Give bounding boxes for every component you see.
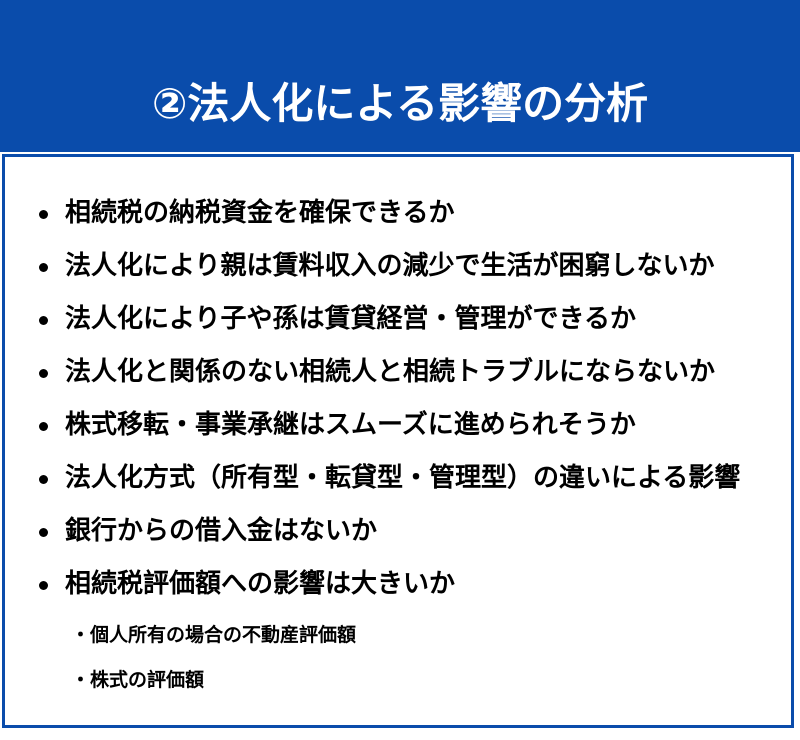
sub-checklist: ・個人所有の場合の不動産評価額 ・株式の評価額 <box>5 613 791 703</box>
content-panel: 相続税の納税資金を確保できるか 法人化により親は賃料収入の減少で生活が困窮しない… <box>2 154 794 728</box>
bullet-dot-icon <box>39 263 48 272</box>
sub-list-item: ・株式の評価額 <box>5 658 791 703</box>
bullet-dot-icon <box>39 316 48 325</box>
list-item-label: 相続税評価額への影響は大きいか <box>65 570 455 599</box>
list-item-label: 法人化により子や孫は賃貸経営・管理ができるか <box>65 305 636 334</box>
sub-list-item: ・個人所有の場合の不動産評価額 <box>5 613 791 658</box>
sub-list-item-label: ・株式の評価額 <box>71 670 204 691</box>
list-item-label: 株式移転・事業承継はスムーズに進められそうか <box>65 411 636 440</box>
checklist: 相続税の納税資金を確保できるか 法人化により親は賃料収入の減少で生活が困窮しない… <box>5 187 791 701</box>
slide-container: ②法人化による影響の分析 相続税の納税資金を確保できるか 法人化により親は賃料収… <box>0 0 800 740</box>
bullet-dot-icon <box>39 210 48 219</box>
sub-list-item-label: ・個人所有の場合の不動産評価額 <box>71 625 356 646</box>
bullet-dot-icon <box>39 369 48 378</box>
list-item: 株式移転・事業承継はスムーズに進められそうか <box>5 399 791 452</box>
list-item: 法人化により子や孫は賃貸経営・管理ができるか <box>5 293 791 346</box>
bullet-dot-icon <box>39 528 48 537</box>
list-item-label: 法人化と関係のない相続人と相続トラブルにならないか <box>65 358 715 387</box>
list-item-label: 法人化により親は賃料収入の減少で生活が困窮しないか <box>65 252 714 281</box>
list-item: 法人化により親は賃料収入の減少で生活が困窮しないか <box>5 240 791 293</box>
list-item-label: 法人化方式（所有型・転貸型・管理型）の違いによる影響 <box>65 464 740 493</box>
bullet-dot-icon <box>39 422 48 431</box>
list-item-label: 相続税の納税資金を確保できるか <box>65 199 454 228</box>
list-item-label: 銀行からの借入金はないか <box>65 517 377 546</box>
list-item: 法人化と関係のない相続人と相続トラブルにならないか <box>5 346 791 399</box>
bullet-dot-icon <box>39 475 48 484</box>
list-item: 銀行からの借入金はないか <box>5 505 791 558</box>
list-item: 法人化方式（所有型・転貸型・管理型）の違いによる影響 <box>5 452 791 505</box>
bullet-dot-icon <box>39 581 48 590</box>
list-item: 相続税評価額への影響は大きいか <box>5 558 791 611</box>
list-item: 相続税の納税資金を確保できるか <box>5 187 791 240</box>
